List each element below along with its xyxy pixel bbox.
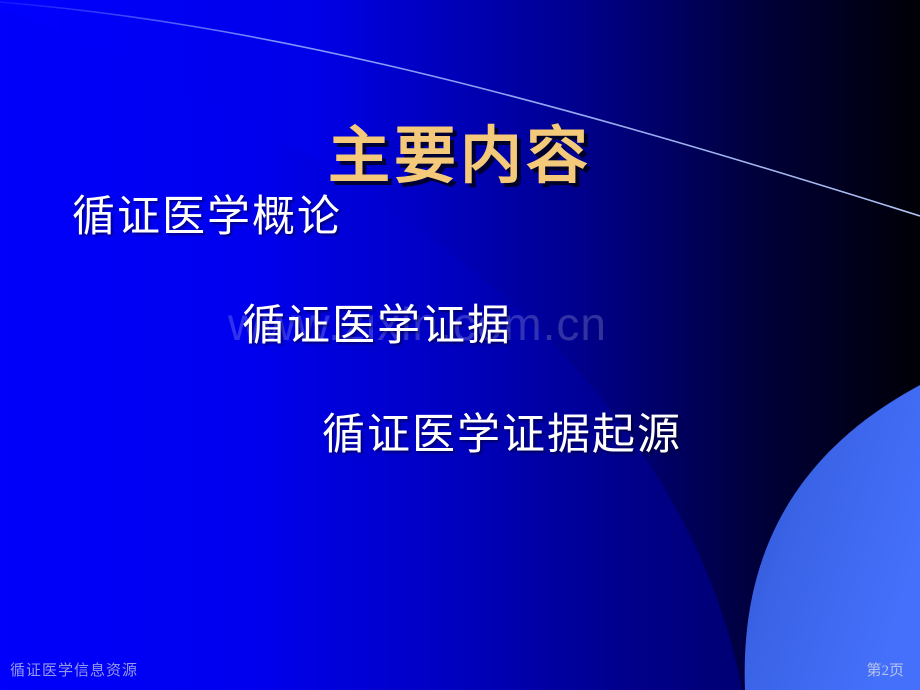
content-line-3: 循证医学证据起源 — [0, 414, 920, 457]
content-list: 循证医学概论 循证医学证据 循证医学证据起源 — [0, 196, 920, 457]
content-line-1: 循证医学概论 — [0, 196, 920, 239]
footer-source-label: 循证医学信息资源 — [10, 659, 138, 680]
page-number: 第2页 — [866, 659, 904, 680]
content-line-2: 循证医学证据 — [0, 305, 920, 348]
slide-canvas: www.zixin.com.cn 主要内容 循证医学概论 循证医学证据 循证医学… — [0, 0, 920, 690]
slide-title: 主要内容 — [0, 125, 920, 190]
